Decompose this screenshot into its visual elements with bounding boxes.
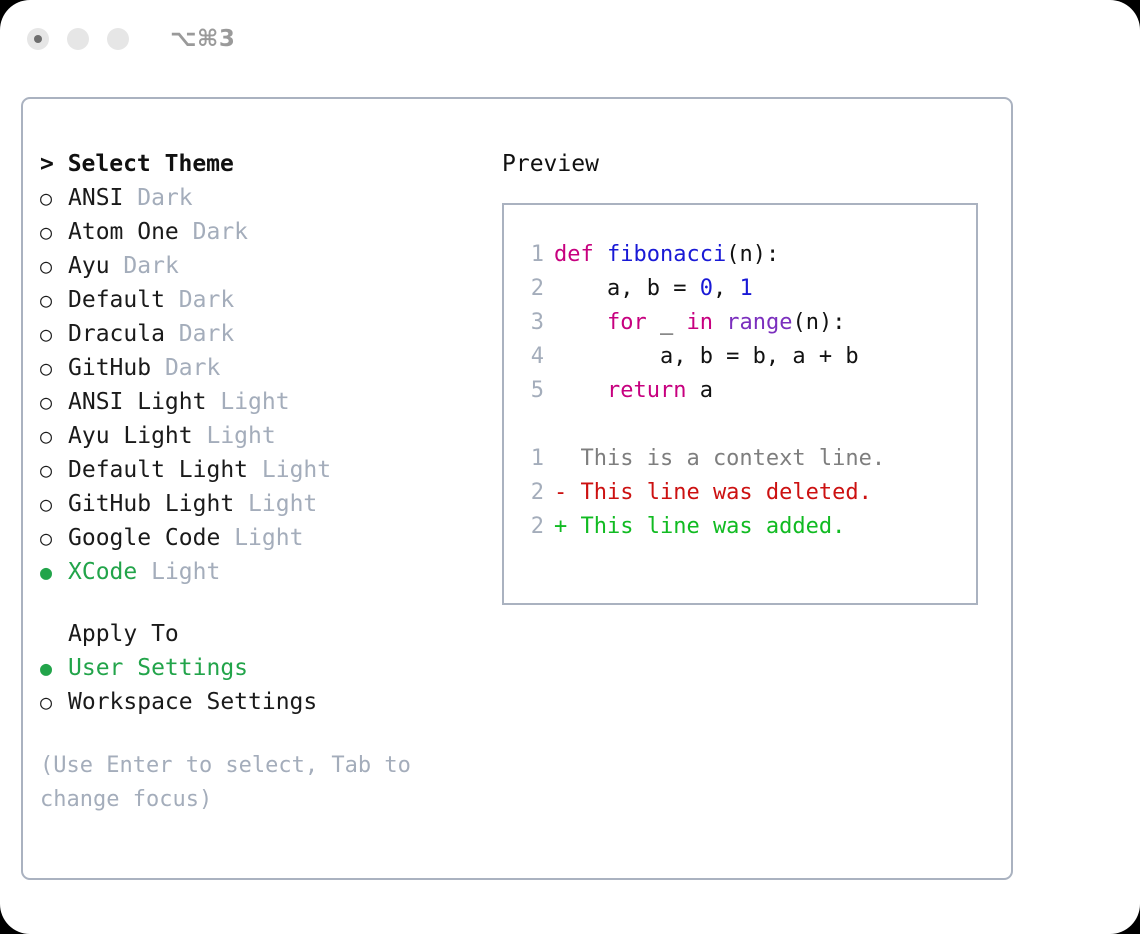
radio-selected-icon: ● bbox=[40, 651, 68, 685]
theme-option-atom-one[interactable]: ○Atom One Dark bbox=[40, 215, 480, 249]
code-line-number: 4 bbox=[518, 340, 544, 374]
app-window: ⌥⌘3 > Select Theme ○ANSI Dark○Atom One D… bbox=[0, 0, 1140, 934]
theme-option-variant-tag: Light bbox=[234, 521, 303, 555]
theme-option-variant-tag: Light bbox=[206, 419, 275, 453]
code-line-number: 1 bbox=[518, 238, 544, 272]
theme-option-variant-tag: Dark bbox=[179, 317, 234, 351]
code-sample: 1def fibonacci(n):2 a, b = 0, 13 for _ i… bbox=[504, 238, 976, 408]
code-line-text: for _ in range(n): bbox=[554, 306, 845, 340]
diff-line-add: 2+ This line was added. bbox=[504, 510, 976, 544]
apply-to-label: Apply To bbox=[40, 617, 480, 651]
radio-unselected-icon: ○ bbox=[40, 283, 68, 317]
code-token-plain: _ bbox=[647, 310, 687, 335]
code-token-num: 0 bbox=[700, 276, 713, 301]
theme-option-variant-tag: Dark bbox=[165, 351, 220, 385]
close-dot-icon bbox=[34, 35, 42, 43]
radio-unselected-icon: ○ bbox=[40, 487, 68, 521]
apply-to-option-label: User Settings bbox=[68, 651, 248, 685]
code-token-kw: def bbox=[554, 242, 607, 267]
code-token-kw: return bbox=[607, 378, 686, 403]
code-token-plain bbox=[554, 310, 607, 335]
code-token-plain: a, b = bbox=[554, 276, 700, 301]
window-controls bbox=[27, 28, 129, 50]
code-line: 1def fibonacci(n): bbox=[504, 238, 976, 272]
radio-unselected-icon: ○ bbox=[40, 385, 68, 419]
theme-option-variant-tag: Dark bbox=[179, 283, 234, 317]
apply-to-list: ●User Settings○Workspace Settings bbox=[40, 651, 480, 719]
theme-option-variant-tag: Dark bbox=[123, 249, 178, 283]
diff-line-number: 2 bbox=[518, 476, 544, 510]
code-token-plain: , bbox=[713, 276, 740, 301]
keyboard-shortcut-label: ⌥⌘3 bbox=[170, 28, 235, 51]
theme-option-label: Default bbox=[68, 283, 165, 317]
code-line-number: 3 bbox=[518, 306, 544, 340]
radio-unselected-icon: ○ bbox=[40, 419, 68, 453]
theme-option-github-light[interactable]: ○GitHub Light Light bbox=[40, 487, 480, 521]
theme-option-github[interactable]: ○GitHub Dark bbox=[40, 351, 480, 385]
apply-to-option-workspace-settings[interactable]: ○Workspace Settings bbox=[40, 685, 480, 719]
main-panel: > Select Theme ○ANSI Dark○Atom One Dark○… bbox=[21, 97, 1013, 880]
radio-unselected-icon: ○ bbox=[40, 685, 68, 719]
diff-line-text: This is a context line. bbox=[554, 442, 885, 476]
radio-unselected-icon: ○ bbox=[40, 317, 68, 351]
code-line: 2 a, b = 0, 1 bbox=[504, 272, 976, 306]
code-line: 5 return a bbox=[504, 374, 976, 408]
code-token-plain bbox=[713, 310, 726, 335]
preview-title: Preview bbox=[502, 147, 992, 181]
preview-column: Preview 1def fibonacci(n):2 a, b = 0, 13… bbox=[502, 147, 992, 605]
theme-option-xcode[interactable]: ●XCode Light bbox=[40, 555, 480, 589]
theme-option-ayu[interactable]: ○Ayu Dark bbox=[40, 249, 480, 283]
theme-option-variant-tag: Light bbox=[262, 453, 331, 487]
code-line-number: 5 bbox=[518, 374, 544, 408]
theme-option-variant-tag: Dark bbox=[137, 181, 192, 215]
diff-sample: 1 This is a context line.2- This line wa… bbox=[504, 442, 976, 544]
theme-option-ayu-light[interactable]: ○Ayu Light Light bbox=[40, 419, 480, 453]
title-bar: ⌥⌘3 bbox=[0, 0, 1140, 78]
theme-option-label: Atom One bbox=[68, 215, 179, 249]
code-token-kw: for bbox=[607, 310, 647, 335]
theme-option-label: Dracula bbox=[68, 317, 165, 351]
theme-option-label: XCode bbox=[68, 555, 137, 589]
code-token-plain: a, b = b, a + b bbox=[554, 344, 859, 369]
diff-line-del: 2- This line was deleted. bbox=[504, 476, 976, 510]
theme-option-label: ANSI bbox=[68, 181, 123, 215]
code-line-text: return a bbox=[554, 374, 713, 408]
apply-to-option-label: Workspace Settings bbox=[68, 685, 317, 719]
code-line-text: a, b = 0, 1 bbox=[554, 272, 753, 306]
select-theme-header: > Select Theme bbox=[40, 147, 480, 181]
code-token-plain: a bbox=[686, 378, 713, 403]
code-token-fn: fibonacci bbox=[607, 242, 726, 267]
theme-option-dracula[interactable]: ○Dracula Dark bbox=[40, 317, 480, 351]
code-diff-separator bbox=[504, 408, 976, 442]
theme-option-variant-tag: Light bbox=[248, 487, 317, 521]
code-line: 3 for _ in range(n): bbox=[504, 306, 976, 340]
code-token-plain: (n): bbox=[726, 242, 779, 267]
radio-selected-icon: ● bbox=[40, 555, 68, 589]
diff-line-text: + This line was added. bbox=[554, 510, 845, 544]
theme-option-ansi-light[interactable]: ○ANSI Light Light bbox=[40, 385, 480, 419]
theme-option-label: Ayu bbox=[68, 249, 110, 283]
theme-option-label: GitHub Light bbox=[68, 487, 234, 521]
theme-option-label: Default Light bbox=[68, 453, 248, 487]
radio-unselected-icon: ○ bbox=[40, 249, 68, 283]
radio-unselected-icon: ○ bbox=[40, 215, 68, 249]
code-line: 4 a, b = b, a + b bbox=[504, 340, 976, 374]
theme-option-variant-tag: Light bbox=[151, 555, 220, 589]
theme-option-label: Google Code bbox=[68, 521, 220, 555]
radio-unselected-icon: ○ bbox=[40, 521, 68, 555]
preview-box: 1def fibonacci(n):2 a, b = 0, 13 for _ i… bbox=[502, 203, 978, 605]
code-line-text: a, b = b, a + b bbox=[554, 340, 859, 374]
theme-option-default-light[interactable]: ○Default Light Light bbox=[40, 453, 480, 487]
diff-line-text: - This line was deleted. bbox=[554, 476, 872, 510]
theme-option-label: GitHub bbox=[68, 351, 151, 385]
theme-option-label: Ayu Light bbox=[68, 419, 193, 453]
theme-option-label: ANSI Light bbox=[68, 385, 206, 419]
diff-line-number: 2 bbox=[518, 510, 544, 544]
maximize-button[interactable] bbox=[107, 28, 129, 50]
code-token-plain: (n): bbox=[792, 310, 845, 335]
theme-selector-column: > Select Theme ○ANSI Dark○Atom One Dark○… bbox=[40, 147, 480, 817]
theme-option-google-code[interactable]: ○Google Code Light bbox=[40, 521, 480, 555]
code-token-kw: in bbox=[686, 310, 713, 335]
code-line-number: 2 bbox=[518, 272, 544, 306]
diff-line-number: 1 bbox=[518, 442, 544, 476]
diff-line-ctx: 1 This is a context line. bbox=[504, 442, 976, 476]
radio-unselected-icon: ○ bbox=[40, 351, 68, 385]
radio-unselected-icon: ○ bbox=[40, 181, 68, 215]
minimize-button[interactable] bbox=[67, 28, 89, 50]
theme-list: ○ANSI Dark○Atom One Dark○Ayu Dark○Defaul… bbox=[40, 181, 480, 589]
keyboard-hint-text: (Use Enter to select, Tab to change focu… bbox=[40, 749, 460, 817]
theme-option-default[interactable]: ○Default Dark bbox=[40, 283, 480, 317]
code-line-text: def fibonacci(n): bbox=[554, 238, 779, 272]
code-token-plain bbox=[554, 378, 607, 403]
code-token-builtin: range bbox=[726, 310, 792, 335]
theme-option-variant-tag: Light bbox=[220, 385, 289, 419]
theme-option-variant-tag: Dark bbox=[193, 215, 248, 249]
code-token-num: 1 bbox=[739, 276, 752, 301]
theme-option-ansi[interactable]: ○ANSI Dark bbox=[40, 181, 480, 215]
radio-unselected-icon: ○ bbox=[40, 453, 68, 487]
apply-to-option-user-settings[interactable]: ●User Settings bbox=[40, 651, 480, 685]
close-button[interactable] bbox=[27, 28, 49, 50]
